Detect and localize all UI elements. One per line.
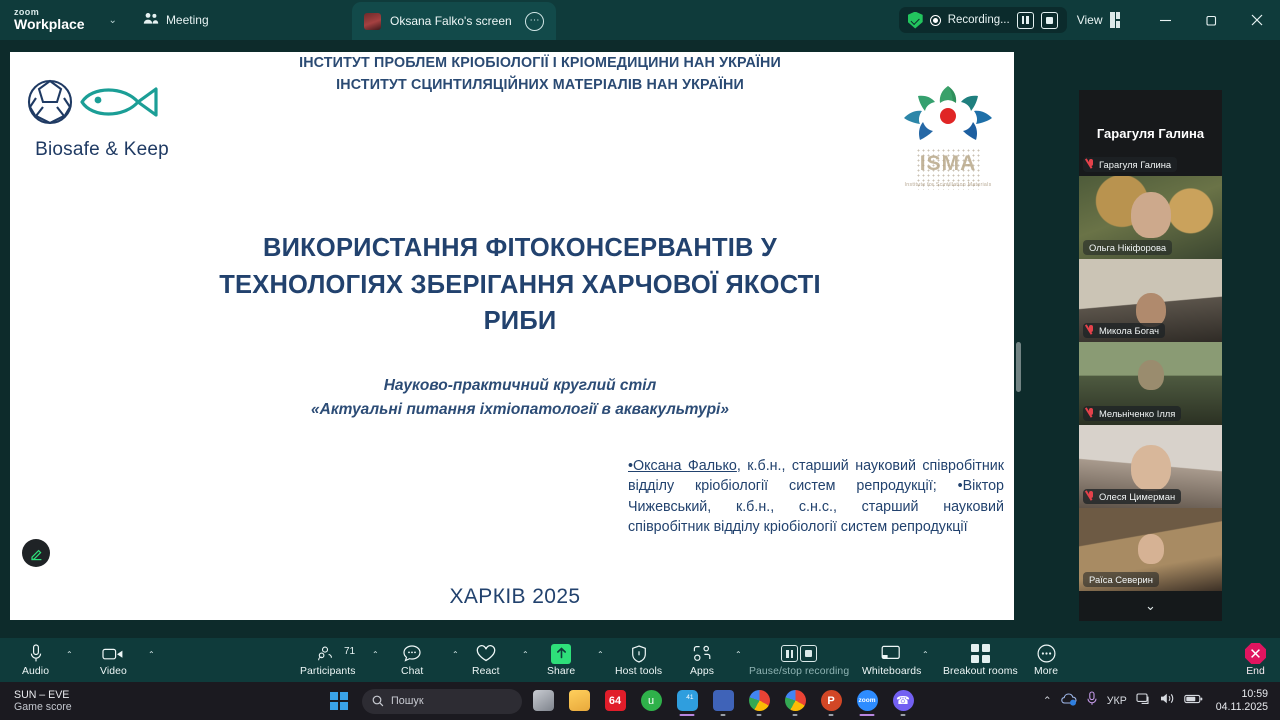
telegram-unread-badge: 41 [684,693,695,702]
institute-line-1: ІНСТИТУТ ПРОБЛЕМ КРІОБІОЛОГІЇ І КРІОМЕДИ… [250,52,830,74]
subtitle-line-2: «Актуальні питання іхтіопатології в аква… [170,398,870,422]
breakout-rooms-label: Breakout rooms [943,666,1018,677]
chat-options-caret[interactable]: ⌃ [452,650,459,659]
ellipsis-icon [1037,644,1056,664]
toolbar-apps-button[interactable]: Apps [690,639,714,681]
participant-name: Гарагуля Галина [1099,159,1171,170]
toolbar-whiteboards-button[interactable]: Whiteboards [862,639,921,681]
slide-title: ВИКОРИСТАННЯ ФІТОКОНСЕРВАНТІВ У ТЕХНОЛОГ… [210,230,830,340]
isma-subcaption: Institute for Scintillation Materials [896,182,1000,188]
react-label: React [472,666,500,677]
active-speaker-name: Гарагуля Галина [1097,126,1204,141]
zoom-icon: zoom [857,690,878,711]
audio-options-caret[interactable]: ⌃ [66,650,73,659]
running-indicator [680,714,695,717]
isma-logo: ISMA Institute for Scintillation Materia… [896,82,1000,194]
taskbar-center-group: Пошук 64 u 41 [330,682,918,720]
biosafe-keep-label: Biosafe & Keep [22,139,182,161]
slide-institute-heading: ІНСТИТУТ ПРОБЛЕМ КРІОБІОЛОГІЇ І КРІОМЕДИ… [250,52,830,96]
participant-name: Раїса Северин [1089,574,1153,585]
microphone-tray-icon[interactable] [1086,691,1098,711]
participant-filmstrip: Гарагуля Галина Гарагуля Галина Ольга Ні… [1079,90,1222,621]
participant-tile[interactable]: Микола Богач [1079,259,1222,342]
taskbar-app-floppy[interactable] [708,684,738,718]
participant-name: Ольга Нікіфорова [1089,242,1166,253]
network-icon[interactable] [1136,692,1151,711]
floppy-icon [713,690,734,711]
end-meeting-button[interactable]: End [1245,639,1266,681]
mic-off-icon [1087,408,1095,419]
app-64-icon: 64 [605,690,626,711]
brand-line-2: Workplace [14,17,85,32]
biosafe-keep-logo: Biosafe & Keep [22,74,182,161]
toolbar-more-button[interactable]: More [1034,639,1058,681]
participant-face [1138,534,1164,564]
subtitle-line-1: Науково-практичний круглий стіл [170,374,870,398]
audio-label: Audio [22,666,49,677]
viber-icon: ☎ [893,690,914,711]
toolbar-share-button[interactable]: Share [547,639,575,681]
volume-icon[interactable] [1160,692,1175,710]
participant-tile[interactable]: Ольга Нікіфорова [1079,176,1222,259]
chrome-icon [785,690,806,711]
isma-flower-icon [896,82,1000,148]
camera-icon [102,644,124,664]
toolbar-react-button[interactable]: React [472,639,500,681]
whiteboards-label: Whiteboards [862,666,921,677]
taskbar-app-viber[interactable]: ☎ [888,684,918,718]
utorrent-icon: u [641,690,662,711]
running-indicator [829,714,834,717]
tab-shared-screen-label: Oksana Falko's screen [390,14,516,28]
end-label: End [1246,666,1265,677]
breakout-rooms-icon [971,644,989,664]
apps-options-caret[interactable]: ⌃ [735,650,742,659]
view-label: View [1077,13,1103,27]
participant-tile[interactable]: Мельніченко Ілля [1079,342,1222,425]
system-tray: ⌃ УКР [1043,682,1280,720]
tray-overflow-caret[interactable]: ⌃ [1043,695,1052,707]
running-indicator [860,714,875,717]
zoom-title-bar: zoom Workplace ⌄ Meeting Oksana Falko's … [0,0,1280,40]
tab-meeting[interactable]: Meeting [143,12,209,28]
shield-host-icon [631,644,647,664]
host-tools-label: Host tools [615,666,662,677]
apps-icon [693,644,712,664]
mic-off-icon [1087,159,1095,170]
battery-icon[interactable] [1184,692,1203,710]
shared-screen-slide: Biosafe & Keep ISMA Institute for [10,52,1014,620]
toolbar-host-tools-button[interactable]: Host tools [615,639,662,681]
slide-city-year: ХАРКІВ 2025 [340,585,690,609]
taskbar-app-64[interactable]: 64 [600,684,630,718]
running-indicator [721,714,726,717]
pause-button[interactable] [781,645,798,662]
search-placeholder: Пошук [391,695,424,707]
heart-icon [476,644,496,664]
slide-subtitle: Науково-практичний круглий стіл «Актуаль… [170,374,870,422]
toolbar-pause-stop-recording[interactable]: Pause/stop recording [749,639,849,681]
pause-recording-button[interactable] [1017,12,1034,29]
end-call-icon [1245,643,1266,664]
participant-name: Мельніченко Ілля [1099,408,1175,419]
stop-button[interactable] [800,645,817,662]
isma-caption: ISMA [896,152,1000,176]
chevron-down-icon[interactable]: ⌄ [109,15,117,26]
participant-face [1138,360,1164,390]
recording-label: Recording... [948,14,1010,26]
avatar [364,13,381,30]
chat-label: Chat [401,666,423,677]
pause-stop-recording-icon [781,644,817,664]
participant-count: 71 [344,646,355,657]
participant-tile[interactable]: Олеся Цимерман [1079,425,1222,508]
fish-and-cell-icon [22,74,182,132]
apps-label: Apps [690,666,714,677]
clock-time: 10:59 [1216,688,1268,701]
clock-date: 04.11.2025 [1216,701,1268,714]
more-label: More [1034,666,1058,677]
recording-status-group: Recording... [899,7,1067,33]
share-label: Share [547,666,575,677]
author-1-name: •Оксана Фалько [628,458,737,474]
minimize-button[interactable] [1142,0,1188,40]
participant-tile-active-speaker[interactable]: Гарагуля Галина Гарагуля Галина [1079,90,1222,176]
participants-options-caret[interactable]: ⌃ [372,650,379,659]
taskbar-app-chrome-1[interactable] [744,684,774,718]
zoom-meeting-window: zoom Workplace ⌄ Meeting Oksana Falko's … [0,0,1280,720]
video-label: Video [100,666,127,677]
onedrive-sync-icon[interactable] [1061,692,1077,711]
people-icon [143,12,159,28]
chrome-icon [749,690,770,711]
layout-icon [1110,12,1121,28]
taskbar-app-file-explorer[interactable] [564,684,594,718]
running-indicator [901,714,906,717]
view-selector[interactable]: View [1077,12,1120,28]
titlebar-right-controls: Recording... View [899,0,1280,40]
telegram-icon: 41 [677,690,698,711]
participant-face [1136,293,1166,327]
chat-icon [403,644,422,664]
toolbar-video-button[interactable]: Video [100,639,127,681]
shield-icon [908,12,923,29]
participant-face [1131,445,1171,491]
participant-tile-speaking[interactable]: Раїса Северин [1079,508,1222,591]
whiteboards-options-caret[interactable]: ⌃ [922,650,929,659]
task-view-icon [533,690,554,711]
folder-icon [569,690,590,711]
tile-name-badge: Олеся Цимерман [1083,489,1181,504]
mic-off-icon [1087,325,1095,336]
toolbar-chat-button[interactable]: Chat [401,639,423,681]
participant-face [1131,192,1171,238]
pause-stop-recording-label: Pause/stop recording [749,666,849,677]
pencil-icon [29,546,44,561]
toolbar-audio-button[interactable]: Audio [22,639,49,681]
toolbar-breakout-rooms-button[interactable]: Breakout rooms [943,639,1018,681]
participants-label: Participants [300,666,356,677]
tab-shared-screen[interactable]: Oksana Falko's screen ⋯ [352,2,556,40]
participant-name: Микола Богач [1099,325,1159,336]
maximize-button[interactable] [1188,0,1234,40]
widget-line-1: SUN – EVE [14,689,72,702]
running-indicator [757,714,762,717]
taskbar-app-powerpoint[interactable]: P [816,684,846,718]
whiteboard-icon [881,644,902,664]
taskbar-app-chrome-2[interactable] [780,684,810,718]
windows-taskbar: SUN – EVE Game score Пошук 64 [0,682,1280,720]
tile-name-badge: Ольга Нікіфорова [1083,240,1172,255]
share-view-scrollbar[interactable] [1016,342,1021,392]
taskbar-clock[interactable]: 10:59 04.11.2025 [1216,688,1268,713]
video-options-caret[interactable]: ⌃ [148,650,155,659]
participant-name: Олеся Цимерман [1099,491,1175,502]
institute-line-2: ІНСТИТУТ СЦИНТИЛЯЦІЙНИХ МАТЕРІАЛІВ НАН У… [250,74,830,96]
search-icon [372,695,384,707]
share-options-caret[interactable]: ⌃ [597,650,604,659]
taskbar-app-task-view[interactable] [528,684,558,718]
taskbar-widget[interactable]: SUN – EVE Game score [14,689,72,714]
tile-name-badge: Микола Богач [1083,323,1165,338]
close-button[interactable] [1234,0,1280,40]
mic-off-icon [1087,491,1095,502]
tab-meeting-label: Meeting [166,13,209,27]
taskbar-app-telegram[interactable]: 41 [672,684,702,718]
share-screen-icon [551,644,571,664]
filmstrip-next-page-button[interactable]: ⌄ [1079,591,1222,621]
widget-line-2: Game score [14,701,72,714]
tile-name-badge: Гарагуля Галина [1083,157,1177,172]
window-controls [1142,0,1280,40]
record-dot-icon [930,15,941,26]
react-options-caret[interactable]: ⌃ [522,650,529,659]
tile-name-badge: Мельніченко Ілля [1083,406,1181,421]
more-options-icon[interactable]: ⋯ [525,12,544,31]
tile-name-badge: Раїса Северин [1083,572,1159,587]
running-indicator [793,714,798,717]
participants-icon [318,644,338,664]
powerpoint-icon: P [821,690,842,711]
annotate-pencil-button[interactable] [22,539,50,567]
zoom-meeting-toolbar: Audio ⌃ Video ⌃ Participants [0,638,1280,682]
taskbar-app-zoom[interactable]: zoom [852,684,882,718]
stop-recording-button[interactable] [1041,12,1058,29]
zoom-workplace-logo[interactable]: zoom Workplace [14,8,85,32]
start-button-icon[interactable] [330,692,348,710]
microphone-icon [29,644,43,664]
slide-authors: •Оксана Фалько, к.б.н., старший науковий… [628,456,1004,537]
taskbar-search-input[interactable]: Пошук [362,689,522,714]
taskbar-app-utorrent[interactable]: u [636,684,666,718]
tray-language-indicator[interactable]: УКР [1107,695,1127,707]
